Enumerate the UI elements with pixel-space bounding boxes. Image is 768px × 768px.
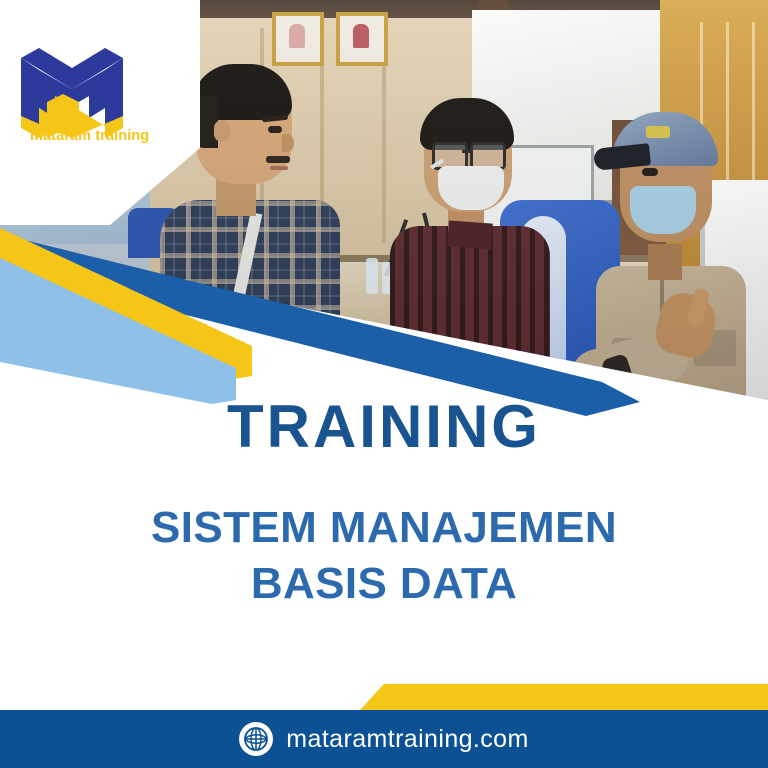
- mataram-m-logo-icon: [17, 44, 127, 140]
- footer-content: mataramtraining.com: [0, 710, 768, 768]
- poster-canvas: mataram training TRAINING SISTEM MANAJEM…: [0, 0, 768, 768]
- subtitle-line-1: SISTEM MANAJEMEN: [64, 500, 704, 556]
- page-title-training: TRAINING: [0, 395, 768, 458]
- footer-yellow-accent: [360, 684, 768, 710]
- website-url[interactable]: mataramtraining.com: [286, 725, 528, 754]
- globe-icon-glyph: [243, 726, 269, 752]
- footer-bar: mataramtraining.com: [0, 710, 768, 768]
- logo-caption: mataram training: [30, 128, 138, 146]
- page-subtitle: SISTEM MANAJEMEN BASIS DATA: [64, 500, 704, 613]
- globe-icon: [239, 722, 273, 756]
- subtitle-line-2: BASIS DATA: [64, 556, 704, 612]
